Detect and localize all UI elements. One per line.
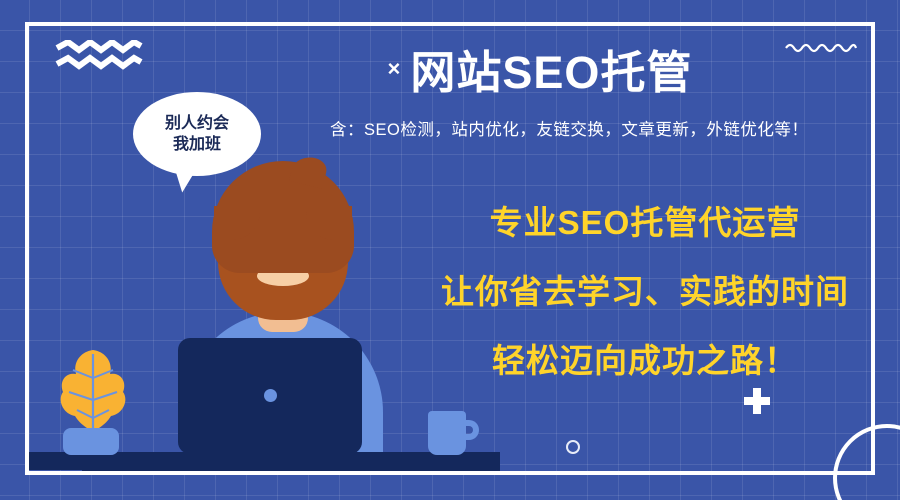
speech-bubble-line-2: 我加班 [173,134,221,155]
plant-pot [63,428,119,455]
slogan-line-1: 专业SEO托管代运营 [420,196,870,244]
wave-decoration-top-left-icon [55,40,143,72]
speech-bubble-text: 别人约会 我加班 [133,92,261,176]
small-circle-decoration-icon [566,440,580,454]
desk-front-panel [82,455,500,475]
slogan-line-3: 轻松迈向成功之路！ [420,334,870,382]
plus-decoration-icon [744,388,770,414]
page-subtitle: 含：SEO检测，站内优化，友链交换，文章更新，外链优化等！ [330,116,890,140]
page-title: ×网站SEO托管 [330,46,750,99]
speech-bubble: 别人约会 我加班 [133,92,261,176]
laptop-logo-dot-icon [264,389,277,402]
plant-leaves-icon [55,348,131,434]
x-mark-icon: × [388,56,402,81]
coffee-mug-handle [460,420,479,440]
slogan-line-2: 让你省去学习、实践的时间 [420,265,870,313]
wave-decoration-top-right-icon [785,41,857,55]
page-title-text: 网站SEO托管 [410,47,692,98]
seo-banner: 别人约会 我加班 ×网站SEO托管 含：SEO检测，站内优化，友链交换，文章更新… [0,0,900,500]
slogan-block: 专业SEO托管代运营 让你省去学习、实践的时间 轻松迈向成功之路！ [420,196,870,382]
speech-bubble-line-1: 别人约会 [165,113,229,134]
